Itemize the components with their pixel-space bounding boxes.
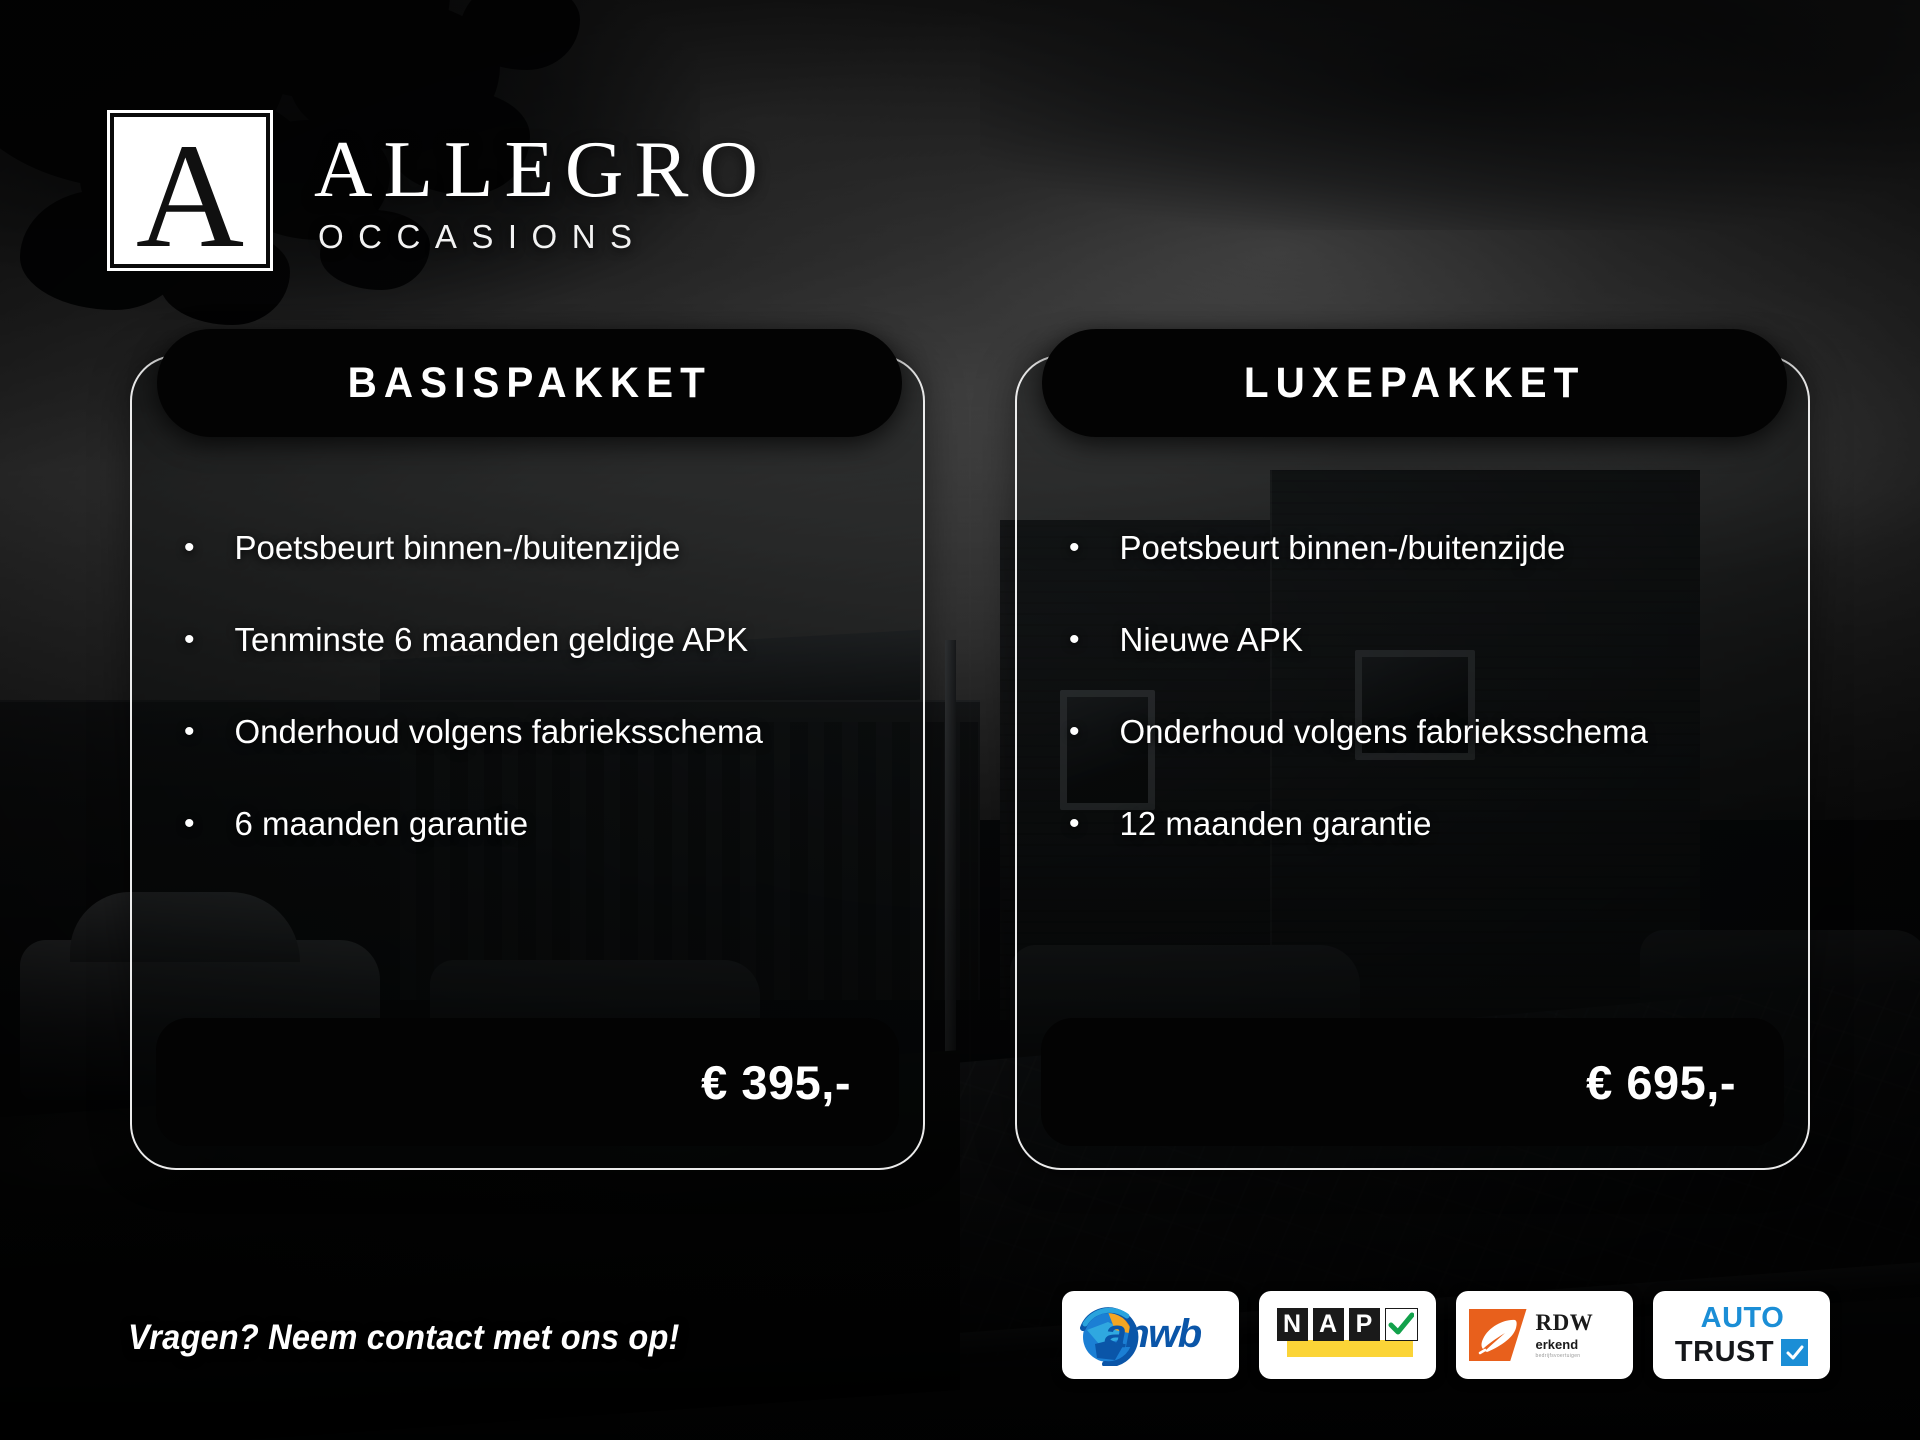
bullet-icon: •: [184, 714, 195, 750]
rdw-wordmark: RDW: [1536, 1311, 1594, 1334]
badge-autotrust[interactable]: AUTO TRUST: [1653, 1291, 1830, 1379]
nap-letter-n: N: [1277, 1308, 1308, 1341]
feature-item: • Nieuwe APK: [1069, 622, 1768, 659]
rdw-subtitle: erkend: [1536, 1338, 1594, 1351]
nap-logo: N A P: [1273, 1304, 1423, 1366]
feature-text: 12 maanden garantie: [1120, 806, 1432, 843]
contact-cta[interactable]: Vragen? Neem contact met ons op!: [128, 1318, 680, 1358]
rdw-fineprint: bedrijfsvoertuigen: [1536, 1354, 1594, 1359]
autotrust-word-auto: AUTO: [1668, 1304, 1816, 1333]
feature-item: • Poetsbeurt binnen-/buitenzijde: [184, 530, 883, 567]
feather-icon: [1475, 1315, 1521, 1355]
anwb-logo: anwb: [1075, 1304, 1227, 1366]
logo-wordmark: ALLEGRO OCCASIONS: [314, 129, 769, 253]
feature-item: • Onderhoud volgens fabrieksschema: [1069, 714, 1768, 751]
bullet-icon: •: [1069, 806, 1080, 842]
feature-list-basis: • Poetsbeurt binnen-/buitenzijde • Tenmi…: [132, 530, 923, 843]
package-cards: BASISPAKKET • Poetsbeurt binnen-/buitenz…: [130, 355, 1810, 1170]
feature-list-luxe: • Poetsbeurt binnen-/buitenzijde • Nieuw…: [1017, 530, 1808, 843]
package-price: € 695,-: [1586, 1055, 1736, 1110]
check-icon: [1785, 1343, 1805, 1363]
check-icon: [1388, 1312, 1414, 1338]
feature-text: Tenminste 6 maanden geldige APK: [235, 622, 749, 659]
bullet-icon: •: [1069, 714, 1080, 750]
package-price: € 395,-: [701, 1055, 851, 1110]
feature-text: Nieuwe APK: [1120, 622, 1303, 659]
feature-item: • Onderhoud volgens fabrieksschema: [184, 714, 883, 751]
feature-text: Onderhoud volgens fabrieksschema: [235, 714, 763, 751]
nap-checkmark-icon: [1385, 1308, 1418, 1341]
package-footer-basis: € 395,-: [156, 1018, 899, 1146]
logo-monogram-letter: A: [136, 135, 244, 258]
feature-item: • Tenminste 6 maanden geldige APK: [184, 622, 883, 659]
nap-yellow-bar: [1287, 1340, 1413, 1357]
brand-logo: A ALLEGRO OCCASIONS: [110, 113, 769, 268]
feature-text: Poetsbeurt binnen-/buitenzijde: [235, 530, 681, 567]
bullet-icon: •: [1069, 530, 1080, 566]
nap-letter-p: P: [1349, 1308, 1380, 1341]
package-footer-luxe: € 695,-: [1041, 1018, 1784, 1146]
bullet-icon: •: [184, 622, 195, 658]
anwb-wordmark: anwb: [1105, 1312, 1201, 1357]
autotrust-bottom-row: TRUST: [1668, 1338, 1816, 1367]
package-header-basis: BASISPAKKET: [157, 329, 902, 437]
brand-name: ALLEGRO: [314, 129, 769, 210]
bullet-icon: •: [1069, 622, 1080, 658]
autotrust-word-trust: TRUST: [1675, 1338, 1774, 1367]
package-title: LUXEPAKKET: [1244, 359, 1585, 408]
brand-tagline: OCCASIONS: [314, 220, 769, 253]
badge-anwb[interactable]: anwb: [1062, 1291, 1239, 1379]
rdw-text: RDW erkend bedrijfsvoertuigen: [1536, 1311, 1594, 1359]
feature-item: • 12 maanden garantie: [1069, 806, 1768, 843]
nap-letter-a: A: [1313, 1308, 1344, 1341]
rdw-logo: RDW erkend bedrijfsvoertuigen: [1469, 1306, 1621, 1364]
autotrust-checkbox-icon: [1781, 1339, 1808, 1366]
badge-nap[interactable]: N A P: [1259, 1291, 1436, 1379]
bullet-icon: •: [184, 806, 195, 842]
badge-rdw[interactable]: RDW erkend bedrijfsvoertuigen: [1456, 1291, 1633, 1379]
package-title: BASISPAKKET: [347, 359, 711, 408]
feature-item: • Poetsbeurt binnen-/buitenzijde: [1069, 530, 1768, 567]
feature-text: Poetsbeurt binnen-/buitenzijde: [1120, 530, 1566, 567]
feature-text: 6 maanden garantie: [235, 806, 529, 843]
package-header-luxe: LUXEPAKKET: [1042, 329, 1787, 437]
nap-letter-boxes: N A P: [1277, 1308, 1418, 1341]
feature-text: Onderhoud volgens fabrieksschema: [1120, 714, 1648, 751]
package-card-luxe[interactable]: LUXEPAKKET • Poetsbeurt binnen-/buitenzi…: [1015, 355, 1810, 1170]
trust-badges: anwb N A P: [1062, 1291, 1830, 1379]
feature-item: • 6 maanden garantie: [184, 806, 883, 843]
logo-mark: A: [110, 113, 270, 268]
package-card-basis[interactable]: BASISPAKKET • Poetsbeurt binnen-/buitenz…: [130, 355, 925, 1170]
autotrust-logo: AUTO TRUST: [1668, 1304, 1816, 1366]
bullet-icon: •: [184, 530, 195, 566]
rdw-orange-mark: [1469, 1309, 1527, 1361]
